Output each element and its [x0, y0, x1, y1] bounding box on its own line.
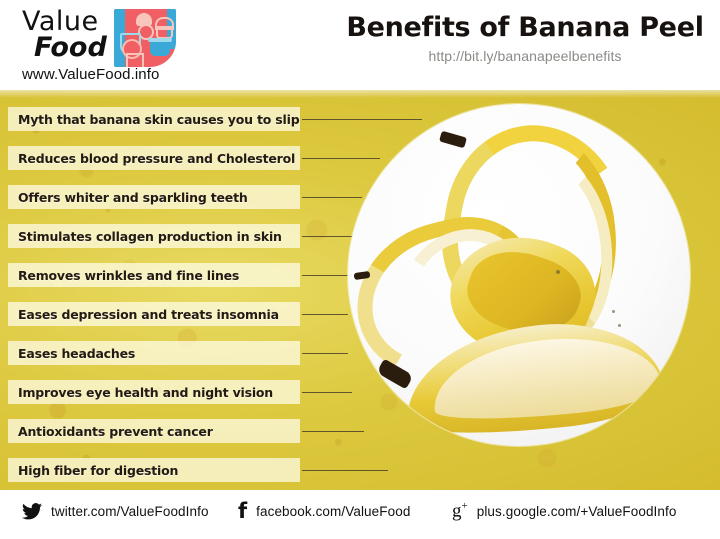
- banana-peel-photo: [348, 104, 690, 446]
- leader-line: [302, 158, 380, 159]
- social-label-google-plus: plus.google.com/+ValueFoodInfo: [477, 504, 677, 519]
- benefit-row: Improves eye health and night vision: [0, 380, 320, 404]
- photo-speck: [556, 270, 560, 274]
- photo-speck: [612, 310, 615, 313]
- leader-line: [302, 119, 422, 120]
- social-link-facebook[interactable]: f facebook.com/ValueFood: [238, 500, 410, 522]
- brand-website[interactable]: www.ValueFood.info: [22, 66, 159, 83]
- brand-name-line2: Food: [34, 32, 107, 63]
- leader-line: [302, 314, 348, 315]
- benefit-row: Removes wrinkles and fine lines: [0, 263, 320, 287]
- benefit-band: Myth that banana skin causes you to slip: [8, 107, 300, 131]
- logo-icon-pot: [150, 42, 170, 56]
- page-title: Benefits of Banana Peel: [340, 10, 710, 46]
- social-link-google-plus[interactable]: g+ plus.google.com/+ValueFoodInfo: [452, 500, 676, 522]
- benefit-label: Eases depression and treats insomnia: [8, 307, 279, 322]
- benefit-label: Reduces blood pressure and Cholesterol: [8, 151, 295, 166]
- google-plus-icon: g+: [452, 501, 468, 520]
- benefit-band: High fiber for digestion: [8, 458, 300, 482]
- benefit-row: Eases depression and treats insomnia: [0, 302, 320, 326]
- benefit-label: Offers whiter and sparkling teeth: [8, 190, 248, 205]
- benefit-band: Stimulates collagen production in skin: [8, 224, 300, 248]
- benefit-band: Improves eye health and night vision: [8, 380, 300, 404]
- benefit-row: Myth that banana skin causes you to slip: [0, 107, 320, 131]
- benefit-row: Reduces blood pressure and Cholesterol: [0, 146, 320, 170]
- benefit-band: Removes wrinkles and fine lines: [8, 263, 300, 287]
- benefit-row: High fiber for digestion: [0, 458, 320, 482]
- social-label-twitter: twitter.com/ValueFoodInfo: [51, 504, 209, 519]
- benefit-band: Offers whiter and sparkling teeth: [8, 185, 300, 209]
- peel-stem-top: [439, 131, 467, 149]
- benefit-band: Eases depression and treats insomnia: [8, 302, 300, 326]
- benefit-band: Eases headaches: [8, 341, 300, 365]
- content-panel: Myth that banana skin causes you to slip…: [0, 90, 720, 490]
- valuefood-logo-icon: [114, 9, 176, 67]
- social-label-facebook: facebook.com/ValueFood: [256, 504, 410, 519]
- benefit-band: Reduces blood pressure and Cholesterol: [8, 146, 300, 170]
- benefit-label: Removes wrinkles and fine lines: [8, 268, 239, 283]
- benefit-band: Antioxidants prevent cancer: [8, 419, 300, 443]
- leader-line: [302, 236, 352, 237]
- header: Value Food www.ValueFood.info Benefits o…: [0, 0, 720, 90]
- facebook-icon: f: [238, 501, 247, 522]
- benefit-label: Antioxidants prevent cancer: [8, 424, 213, 439]
- twitter-icon: [22, 503, 42, 520]
- leader-line: [302, 431, 364, 432]
- footer: twitter.com/ValueFoodInfo f facebook.com…: [0, 490, 720, 539]
- benefit-row: Stimulates collagen production in skin: [0, 224, 320, 248]
- logo-icon-glass: [126, 53, 144, 67]
- benefit-row: Antioxidants prevent cancer: [0, 419, 320, 443]
- benefit-row: Eases headaches: [0, 341, 320, 365]
- benefit-label: Myth that banana skin causes you to slip: [8, 112, 299, 127]
- benefit-label: Eases headaches: [8, 346, 135, 361]
- title-block: Benefits of Banana Peel http://bit.ly/ba…: [340, 10, 710, 64]
- social-link-twitter[interactable]: twitter.com/ValueFoodInfo: [22, 500, 209, 522]
- leader-line: [302, 392, 352, 393]
- short-url[interactable]: http://bit.ly/bananapeelbenefits: [340, 48, 710, 64]
- benefit-label: Stimulates collagen production in skin: [8, 229, 282, 244]
- brand-wordmark: Value Food: [16, 6, 126, 64]
- infographic-root: Value Food www.ValueFood.info Benefits o…: [0, 0, 720, 539]
- leader-line: [302, 197, 362, 198]
- leader-line: [302, 470, 388, 471]
- benefit-label: High fiber for digestion: [8, 463, 178, 478]
- benefit-label: Improves eye health and night vision: [8, 385, 273, 400]
- benefit-row: Offers whiter and sparkling teeth: [0, 185, 320, 209]
- leader-line: [302, 353, 348, 354]
- leader-line: [302, 275, 348, 276]
- photo-speck: [618, 324, 621, 327]
- brand-logo[interactable]: Value Food www.ValueFood.info: [16, 6, 206, 86]
